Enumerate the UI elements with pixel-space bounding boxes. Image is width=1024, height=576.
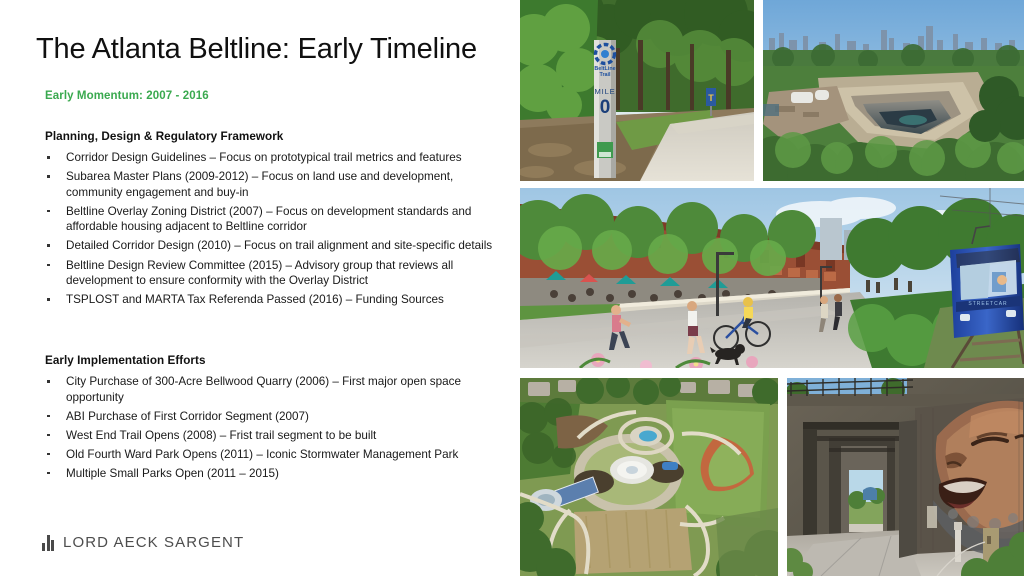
section-heading: Early Implementation Efforts (45, 354, 507, 367)
bullet-icon (47, 415, 50, 418)
list-item: TSPLOST and MARTA Tax Referenda Passed (… (45, 292, 507, 308)
list-item-text: TSPLOST and MARTA Tax Referenda Passed (… (66, 293, 444, 306)
list-item: Multiple Small Parks Open (2011 – 2015) (45, 466, 507, 482)
beltline-trail-mile-marker-photo: T BeltLine Trail MILE 0 (520, 0, 754, 181)
bar-chart-mark-icon (42, 534, 54, 551)
list-item: City Purchase of 300-Acre Bellwood Quarr… (45, 374, 507, 405)
list-item-text: Beltline Overlay Zoning District (2007) … (66, 205, 471, 234)
bullet-icon (47, 453, 50, 456)
bullet-icon (47, 175, 50, 178)
section-planning: Planning, Design & Regulatory Framework … (45, 130, 507, 311)
slide-subtitle: Early Momentum: 2007 - 2016 (45, 90, 209, 102)
list-item: Corridor Design Guidelines – Focus on pr… (45, 150, 507, 166)
list-item: Subarea Master Plans (2009-2012) – Focus… (45, 169, 507, 200)
logo-text: LORD AECK SARGENT (63, 534, 244, 551)
beltline-streetcar-rendering: STREETCAR (520, 188, 1024, 368)
list-item: Beltline Design Review Committee (2015) … (45, 258, 507, 289)
section-implementation: Early Implementation Efforts City Purcha… (45, 354, 507, 485)
page-title: The Atlanta Beltline: Early Timeline (36, 33, 477, 66)
bullet-icon (47, 264, 50, 267)
list-item-text: Multiple Small Parks Open (2011 – 2015) (66, 467, 279, 480)
bullet-list: City Purchase of 300-Acre Bellwood Quarr… (45, 374, 507, 482)
svg-text:T: T (708, 93, 714, 103)
list-item-text: Corridor Design Guidelines – Focus on pr… (66, 151, 462, 164)
list-item: Old Fourth Ward Park Opens (2011) – Icon… (45, 447, 507, 463)
list-item-text: Detailed Corridor Design (2010) – Focus … (66, 239, 492, 252)
bullet-icon (47, 298, 50, 301)
bullet-icon (47, 244, 50, 247)
list-item: Detailed Corridor Design (2010) – Focus … (45, 238, 507, 254)
bellwood-quarry-aerial-photo (763, 0, 1024, 181)
svg-text:0: 0 (600, 97, 611, 118)
bullet-icon (47, 472, 50, 475)
list-item-text: Old Fourth Ward Park Opens (2011) – Icon… (66, 448, 458, 461)
svg-text:MILE: MILE (595, 87, 616, 96)
bullet-icon (47, 434, 50, 437)
list-item-text: City Purchase of 300-Acre Bellwood Quarr… (66, 375, 461, 404)
list-item: ABI Purchase of First Corridor Segment (… (45, 409, 507, 425)
logo: LORD AECK SARGENT (42, 534, 244, 551)
bullet-icon (47, 380, 50, 383)
park-aerial-photo (520, 378, 778, 576)
text-column: The Atlanta Beltline: Early Timeline Ear… (0, 0, 520, 576)
list-item-text: ABI Purchase of First Corridor Segment (… (66, 410, 309, 423)
list-item-text: West End Trail Opens (2008) – Frist trai… (66, 429, 376, 442)
bullet-list: Corridor Design Guidelines – Focus on pr… (45, 150, 507, 308)
section-heading: Planning, Design & Regulatory Framework (45, 130, 507, 143)
bullet-icon (47, 156, 50, 159)
list-item: West End Trail Opens (2008) – Frist trai… (45, 428, 507, 444)
list-item-text: Subarea Master Plans (2009-2012) – Focus… (66, 170, 453, 199)
photo-grid: T BeltLine Trail MILE 0 (520, 0, 1024, 576)
svg-text:Trail: Trail (599, 72, 611, 78)
list-item-text: Beltline Design Review Committee (2015) … (66, 259, 453, 288)
tunnel-mural-photo (787, 378, 1024, 576)
svg-text:STREETCAR: STREETCAR (968, 301, 1007, 307)
list-item: Beltline Overlay Zoning District (2007) … (45, 204, 507, 235)
bullet-icon (47, 210, 50, 213)
slide: The Atlanta Beltline: Early Timeline Ear… (0, 0, 1024, 576)
